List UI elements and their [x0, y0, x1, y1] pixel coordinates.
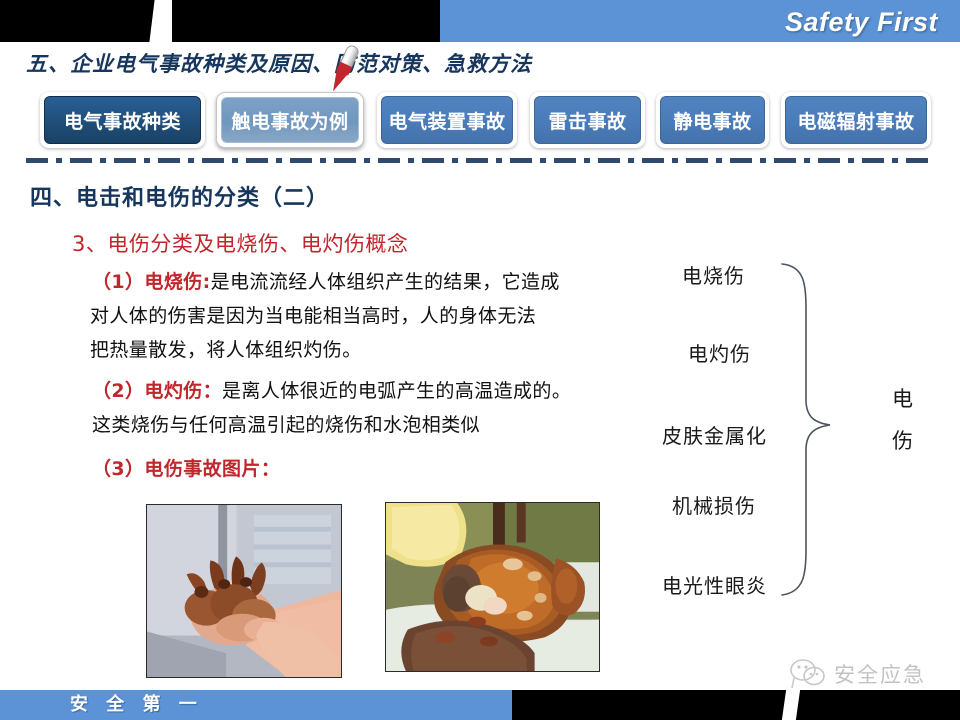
paragraph-line-1: 是电流流经人体组织产生的结果，它造成 [211, 271, 560, 293]
nav-button-label: 电磁辐射事故 [785, 96, 927, 144]
chapter-title-line: 五、企业电气事故种类及原因、防范对策、急救方法 [26, 48, 646, 78]
photo-burned-torso-graphic [386, 503, 599, 671]
nav-button-em-radiation[interactable]: 电磁辐射事故 [781, 92, 931, 148]
wechat-logo-icon [788, 654, 828, 694]
watermark-text: 安全应急 [834, 659, 926, 689]
header-band: Safety First [0, 0, 960, 42]
nav-button-label: 雷击事故 [534, 96, 641, 144]
footer-black-bar [512, 690, 960, 720]
brace-item-skin-metallization: 皮肤金属化 [662, 420, 767, 449]
paragraph-photos-label: （3）电伤事故图片： [92, 452, 392, 486]
brace-item-arc-burn: 电灼伤 [688, 338, 751, 367]
footer-slogan: 安 全 第 一 [70, 690, 203, 720]
nav-button-accident-types[interactable]: 电气事故种类 [40, 92, 205, 148]
nav-button-label: 电气装置事故 [381, 96, 513, 144]
slide-root: Safety First 五、企业电气事故种类及原因、防范对策、急救方法 电气事… [0, 0, 960, 720]
paragraph-marker: （2）电灼伤： [92, 380, 222, 402]
photo-burned-hand [146, 504, 342, 678]
photo-burned-hand-graphic [147, 505, 341, 677]
brace-diagram: 电烧伤 电灼伤 皮肤金属化 机械损伤 电光性眼炎 电 伤 [640, 250, 960, 610]
section-heading: 四、电击和电伤的分类（二） [30, 180, 329, 212]
nav-button-electric-shock-case[interactable]: 触电事故为例 [216, 92, 364, 148]
nav-button-label: 电气事故种类 [44, 96, 201, 144]
nav-button-row: 电气事故种类 触电事故为例 电气装置事故 雷击事故 静电事故 电磁辐射事故 [0, 92, 960, 150]
nav-button-label: 触电事故为例 [221, 97, 359, 143]
paragraph-line-2: 对人体的伤害是因为当电能相当高时，人的身体无法 [90, 299, 632, 333]
paragraph-marker: （1）电烧伤: [92, 271, 211, 293]
paragraph-arc-burn: （2）电灼伤：是离人体很近的电弧产生的高温造成的。 这类烧伤与任何高温引起的烧伤… [92, 374, 652, 442]
paragraph-electric-burn: （1）电烧伤:是电流流经人体组织产生的结果，它造成 对人体的伤害是因为当电能相当… [92, 265, 632, 367]
header-black-block-left [0, 0, 160, 42]
paragraph-line-2: 这类烧伤与任何高温引起的烧伤和水泡相类似 [92, 408, 652, 442]
nav-button-label: 静电事故 [660, 96, 765, 144]
photo-burned-torso [385, 502, 600, 672]
brace-group-label-char-1: 电 [892, 387, 914, 411]
brace-item-photo-ophthalmia: 电光性眼炎 [662, 570, 767, 599]
header-black-block-right [172, 0, 440, 42]
paragraph-marker: （3）电伤事故图片： [92, 458, 280, 480]
nav-button-lightning-accident[interactable]: 雷击事故 [530, 92, 645, 148]
brace-group-label: 电 伤 [888, 378, 918, 462]
dash-dot-divider [26, 158, 934, 163]
nav-button-device-accident[interactable]: 电气装置事故 [377, 92, 517, 148]
brace-item-electric-burn: 电烧伤 [682, 260, 745, 289]
brace-group-label-char-2: 伤 [892, 429, 914, 453]
curly-brace-icon [760, 250, 870, 610]
section-sub-heading: 3、电伤分类及电烧伤、电灼伤概念 [72, 228, 408, 258]
nav-button-static-accident[interactable]: 静电事故 [656, 92, 769, 148]
brace-item-mechanical-injury: 机械损伤 [672, 490, 756, 519]
chapter-title: 五、企业电气事故种类及原因、防范对策、急救方法 [26, 48, 532, 78]
brand-title: Safety First [785, 2, 938, 42]
paragraph-line-3: 把热量散发，将人体组织灼伤。 [90, 333, 632, 367]
paragraph-line-1: 是离人体很近的电弧产生的高温造成的。 [222, 380, 571, 402]
